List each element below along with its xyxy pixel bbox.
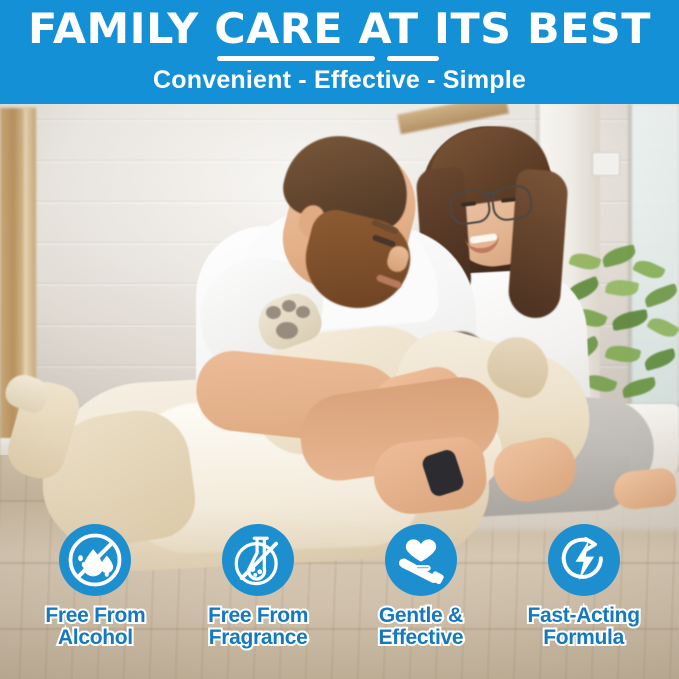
badge-circle: [59, 524, 131, 596]
feature-gentle-effective: Gentle & Effective: [346, 524, 496, 649]
paw-pad: [296, 306, 310, 318]
badge-circle: [385, 524, 457, 596]
page-title: FAMILY CARE AT ITS BEST: [0, 5, 679, 53]
feature-label-line1: Free From: [208, 605, 308, 627]
paw-pad: [266, 306, 281, 319]
title-divider: [0, 54, 679, 62]
hand-holding-heart-icon: [394, 533, 448, 587]
feature-label-line2: Fragrance: [208, 627, 308, 649]
feature-label-line2: Alcohol: [45, 627, 145, 649]
feature-fast-acting-formula: Fast-Acting Formula: [509, 524, 659, 649]
woman-foot: [612, 467, 678, 511]
feature-label-line2: Effective: [378, 627, 463, 649]
feature-label-line2: Formula: [528, 627, 640, 649]
no-fragrance-flask-icon: [229, 531, 287, 589]
paw-pad: [276, 322, 298, 339]
feature-badge-row: Free From Alcohol: [0, 524, 679, 679]
feature-label: Free From Alcohol: [45, 605, 145, 649]
divider-short-rule: [387, 56, 439, 61]
badge-circle: [548, 524, 620, 596]
feature-label-line1: Fast-Acting: [528, 605, 640, 627]
feature-label-line1: Gentle &: [378, 605, 463, 627]
feature-free-from-alcohol: Free From Alcohol: [20, 524, 170, 649]
feature-free-from-fragrance: Free From Fragrance: [183, 524, 333, 649]
badge-circle: [222, 524, 294, 596]
no-alcohol-droplet-icon: [66, 531, 124, 589]
wall-outlet: [592, 152, 620, 176]
feature-label: Gentle & Effective: [378, 605, 463, 649]
product-infographic: FAMILY CARE AT ITS BEST Convenient - Eff…: [0, 0, 679, 679]
feature-label: Free From Fragrance: [208, 605, 308, 649]
header-banner: FAMILY CARE AT ITS BEST Convenient - Eff…: [0, 0, 679, 104]
feature-label-line1: Free From: [45, 605, 145, 627]
lightning-bolt-refresh-icon: [557, 533, 611, 587]
page-subtitle: Convenient - Effective - Simple: [0, 66, 679, 95]
divider-long-rule: [217, 56, 375, 61]
feature-label: Fast-Acting Formula: [528, 605, 640, 649]
paw-pad: [282, 300, 296, 312]
